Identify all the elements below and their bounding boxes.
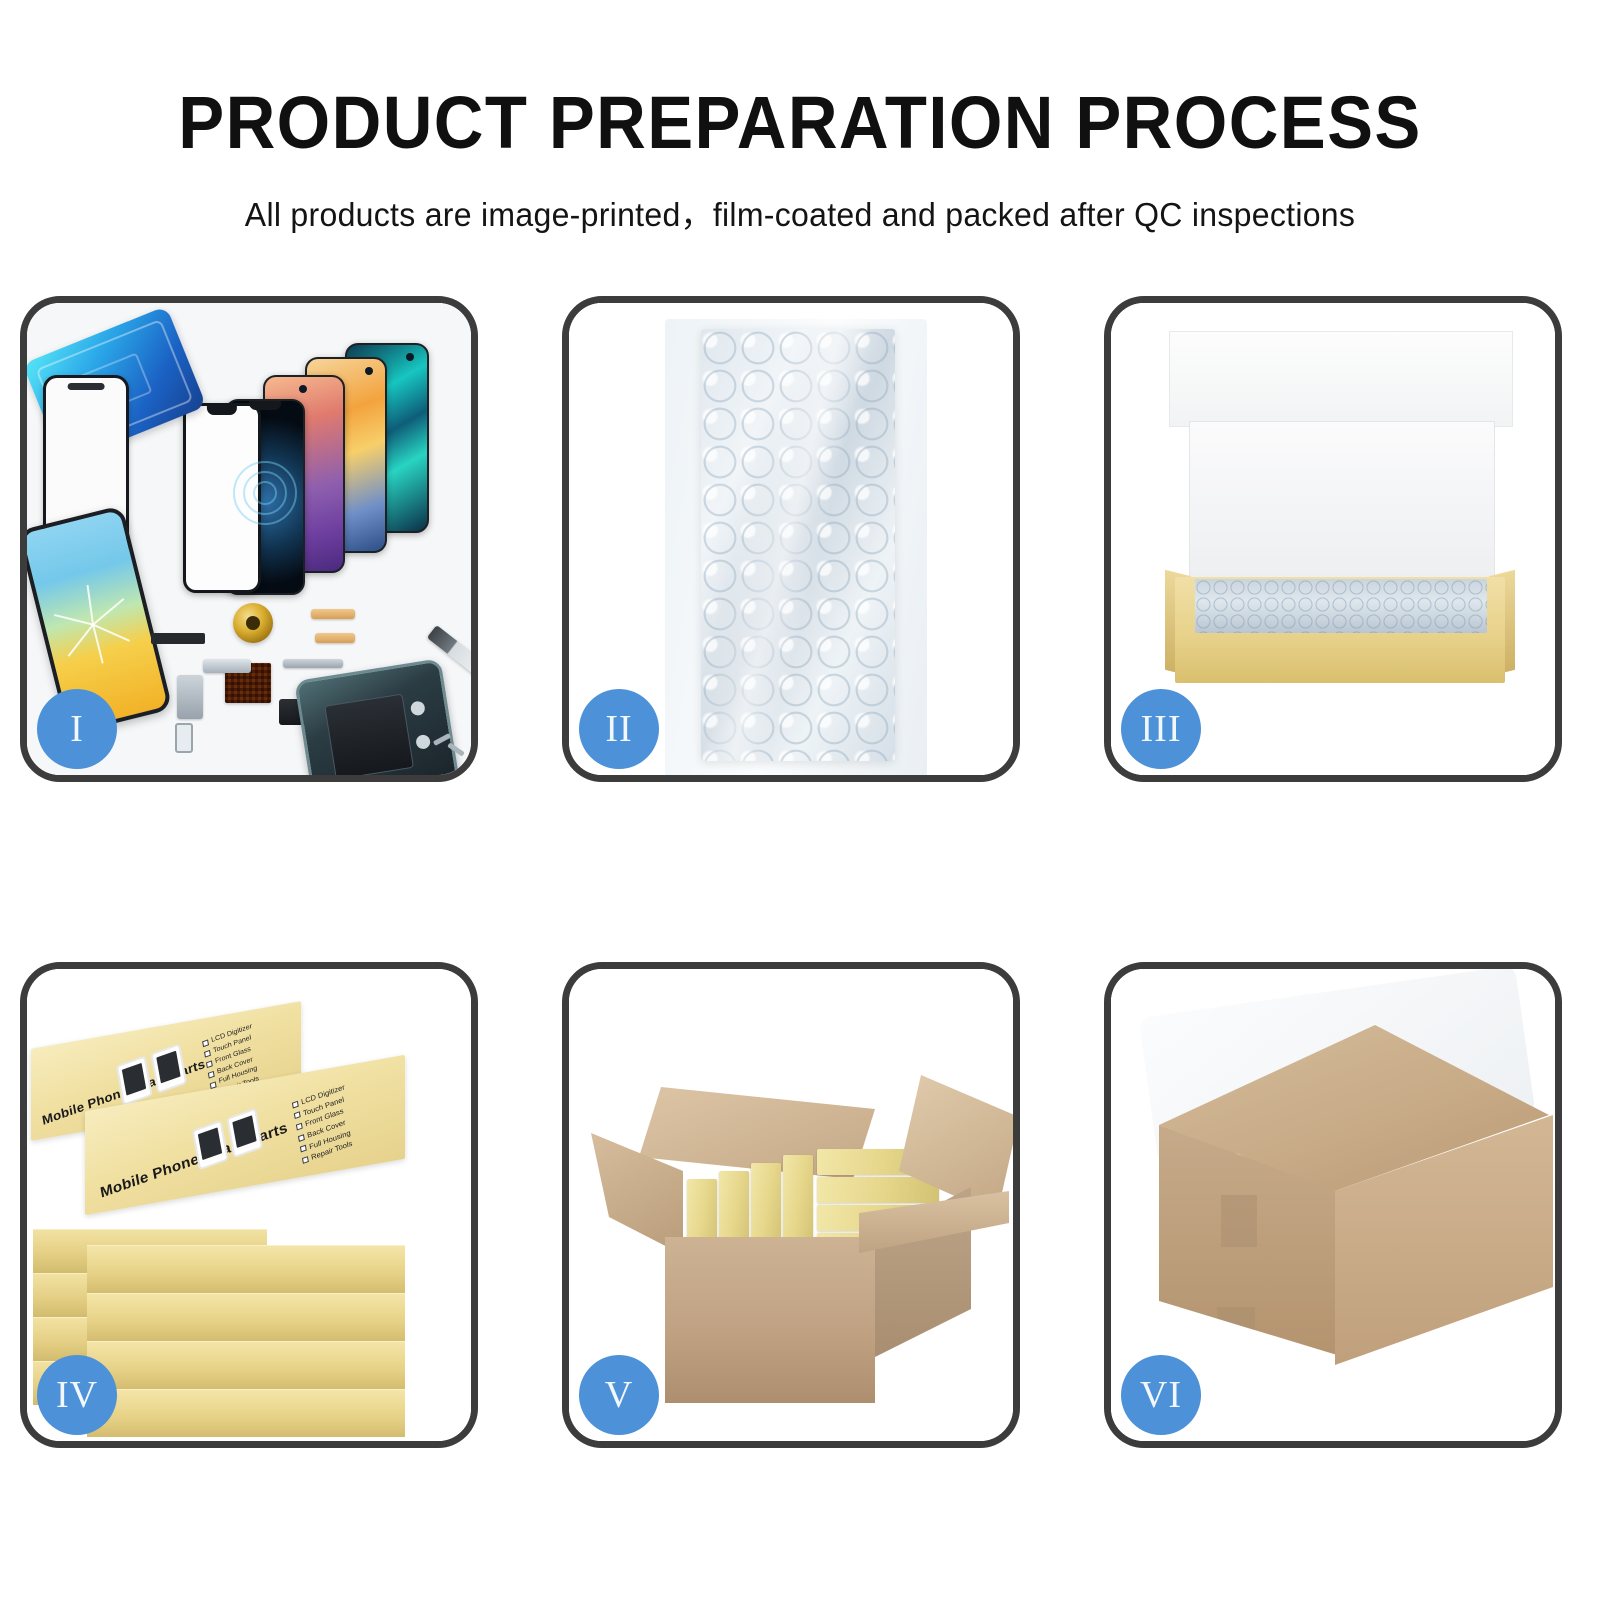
wireless-charging-coil-image (233, 603, 273, 643)
speaker-grille-image (151, 633, 205, 644)
step-badge-2-label: II (605, 710, 632, 748)
box-checklist-front: LCD Digitizer Touch Panel Front Glass Ba… (291, 1082, 355, 1167)
flex-cable-5-image (203, 659, 251, 673)
process-step-panel-5: V (562, 962, 1020, 1448)
step-badge-5-label: V (605, 1376, 633, 1414)
process-step-panel-3: III (1104, 296, 1562, 782)
step-badge-3-label: III (1141, 710, 1182, 748)
box-product-thumbnails-front (192, 1108, 263, 1171)
step-badge-4-label: IV (56, 1376, 98, 1414)
process-step-grid: I II (0, 0, 1600, 1600)
carton-front-image (665, 1237, 875, 1403)
step-badge-3: III (1121, 689, 1201, 769)
product-thumbnail (226, 1108, 263, 1158)
flex-cable-4-image (177, 675, 203, 719)
crack-pattern-icon (230, 458, 300, 528)
flex-cable-1-image (311, 609, 355, 619)
process-step-panel-6: VI (1104, 962, 1562, 1448)
flex-cable-3-image (283, 659, 343, 668)
product-thumbnail (116, 1055, 153, 1105)
step-badge-1-label: I (70, 710, 84, 748)
crack-lines-icon (45, 578, 140, 673)
step-badge-6-label: VI (1140, 1376, 1182, 1414)
box-lid-inner-image (1189, 421, 1495, 579)
step-badge-4: IV (37, 1355, 117, 1435)
film-sheen-overlay (701, 329, 895, 761)
process-step-panel-1: I (20, 296, 478, 782)
process-step-panel-4: Mobile Phone Spare Parts LCD Digitizer T… (20, 962, 478, 1448)
step-badge-2: II (579, 689, 659, 769)
step-badge-1: I (37, 689, 117, 769)
product-thumbnail (150, 1043, 187, 1093)
sim-tray-image (175, 723, 193, 753)
step-badge-5: V (579, 1355, 659, 1435)
process-step-panel-2: II (562, 296, 1020, 782)
phone-screen-fan (177, 341, 471, 591)
flex-cable-2-image (315, 633, 355, 643)
infographic-page: PRODUCT PREPARATION PROCESS All products… (0, 0, 1600, 1600)
battery-image (324, 694, 414, 775)
bubble-wrapped-item-in-box-image (1195, 579, 1487, 633)
product-thumbnail (192, 1120, 229, 1170)
step-badge-6: VI (1121, 1355, 1201, 1435)
box-lid-outer-image (1169, 331, 1513, 427)
screws-image (433, 733, 471, 759)
